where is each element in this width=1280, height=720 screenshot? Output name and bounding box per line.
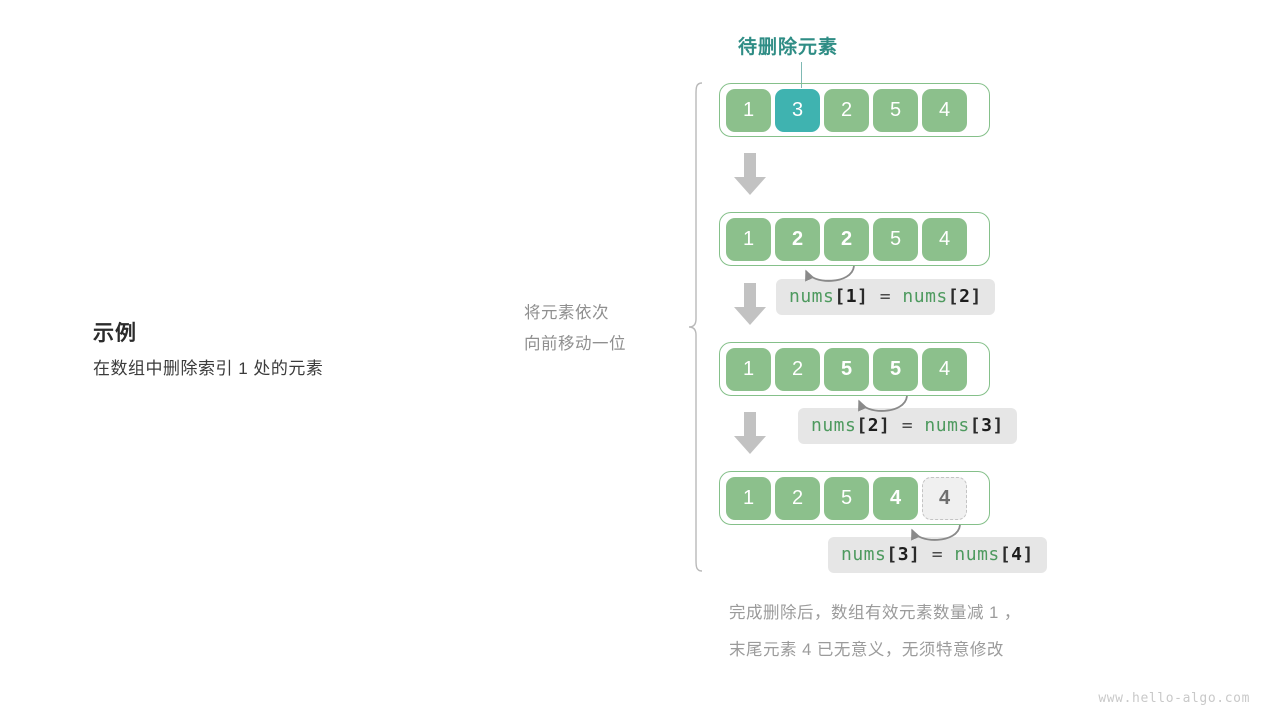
target-element-label: 待删除元素: [738, 32, 838, 59]
watermark: www.hello-algo.com: [1098, 691, 1250, 706]
code-label: nums[1] = nums[2]: [776, 279, 995, 315]
code-rhs-name: nums: [924, 415, 969, 436]
code-lhs-index: 2: [868, 415, 879, 436]
footer-note-line2: 末尾元素 4 已无意义，无须特意修改: [729, 632, 1199, 669]
code-lhs-name: nums: [789, 286, 834, 307]
code-lhs-name: nums: [811, 415, 856, 436]
array-cell-source: 5: [873, 348, 918, 391]
array-cell-changed: 5: [824, 348, 869, 391]
array-cell: 2: [775, 348, 820, 391]
code-operator: =: [902, 415, 913, 436]
shift-annotation-line1: 将元素依次: [524, 298, 694, 329]
footer-note: 完成删除后，数组有效元素数量减 1 ， 末尾元素 4 已无意义，无须特意修改: [729, 595, 1199, 669]
code-rhs-name: nums: [902, 286, 947, 307]
code-lhs-name: nums: [841, 544, 886, 565]
code-rhs-index: 4: [1011, 544, 1022, 565]
array-cell: 1: [726, 89, 771, 132]
shift-annotation-line2: 向前移动一位: [524, 329, 694, 360]
array-cell: 2: [775, 477, 820, 520]
grouping-bracket: [688, 82, 704, 572]
code-label: nums[3] = nums[4]: [828, 537, 1047, 573]
array-cell: 5: [824, 477, 869, 520]
array-row: 1 3 2 5 4: [719, 83, 990, 137]
array-cell-changed: 2: [775, 218, 820, 261]
array-cell-obsolete: 4: [922, 477, 967, 520]
array-cell-changed: 4: [873, 477, 918, 520]
code-label: nums[2] = nums[3]: [798, 408, 1017, 444]
array-cell: 5: [873, 218, 918, 261]
down-arrow-icon: [733, 412, 767, 455]
array-cell: 1: [726, 218, 771, 261]
code-lhs-index: 3: [898, 544, 909, 565]
down-arrow-icon: [733, 153, 767, 196]
array-cell: 4: [922, 89, 967, 132]
footer-note-line1: 完成删除后，数组有效元素数量减 1 ，: [729, 595, 1199, 632]
array-row: 1 2 2 5 4: [719, 212, 990, 266]
down-arrow-icon: [733, 283, 767, 326]
array-row: 1 2 5 4 4: [719, 471, 990, 525]
code-operator: =: [880, 286, 891, 307]
code-rhs-name: nums: [954, 544, 999, 565]
code-rhs-index: 2: [959, 286, 970, 307]
array-cell-source: 2: [824, 218, 869, 261]
array-cell: 1: [726, 348, 771, 391]
code-lhs-index: 1: [846, 286, 857, 307]
example-block: 示例 在数组中删除索引 1 处的元素: [93, 322, 493, 379]
array-cell-target: 3: [775, 89, 820, 132]
array-cell: 5: [873, 89, 918, 132]
code-rhs-index: 3: [981, 415, 992, 436]
array-cell: 1: [726, 477, 771, 520]
array-cell: 4: [922, 218, 967, 261]
example-subtitle: 在数组中删除索引 1 处的元素: [93, 359, 493, 379]
array-row: 1 2 5 5 4: [719, 342, 990, 396]
code-operator: =: [932, 544, 943, 565]
array-cell: 4: [922, 348, 967, 391]
array-cell: 2: [824, 89, 869, 132]
example-title: 示例: [93, 322, 493, 345]
shift-annotation: 将元素依次 向前移动一位: [524, 298, 694, 360]
diagram-canvas: 示例 在数组中删除索引 1 处的元素 将元素依次 向前移动一位 待删除元素 1 …: [0, 0, 1280, 720]
